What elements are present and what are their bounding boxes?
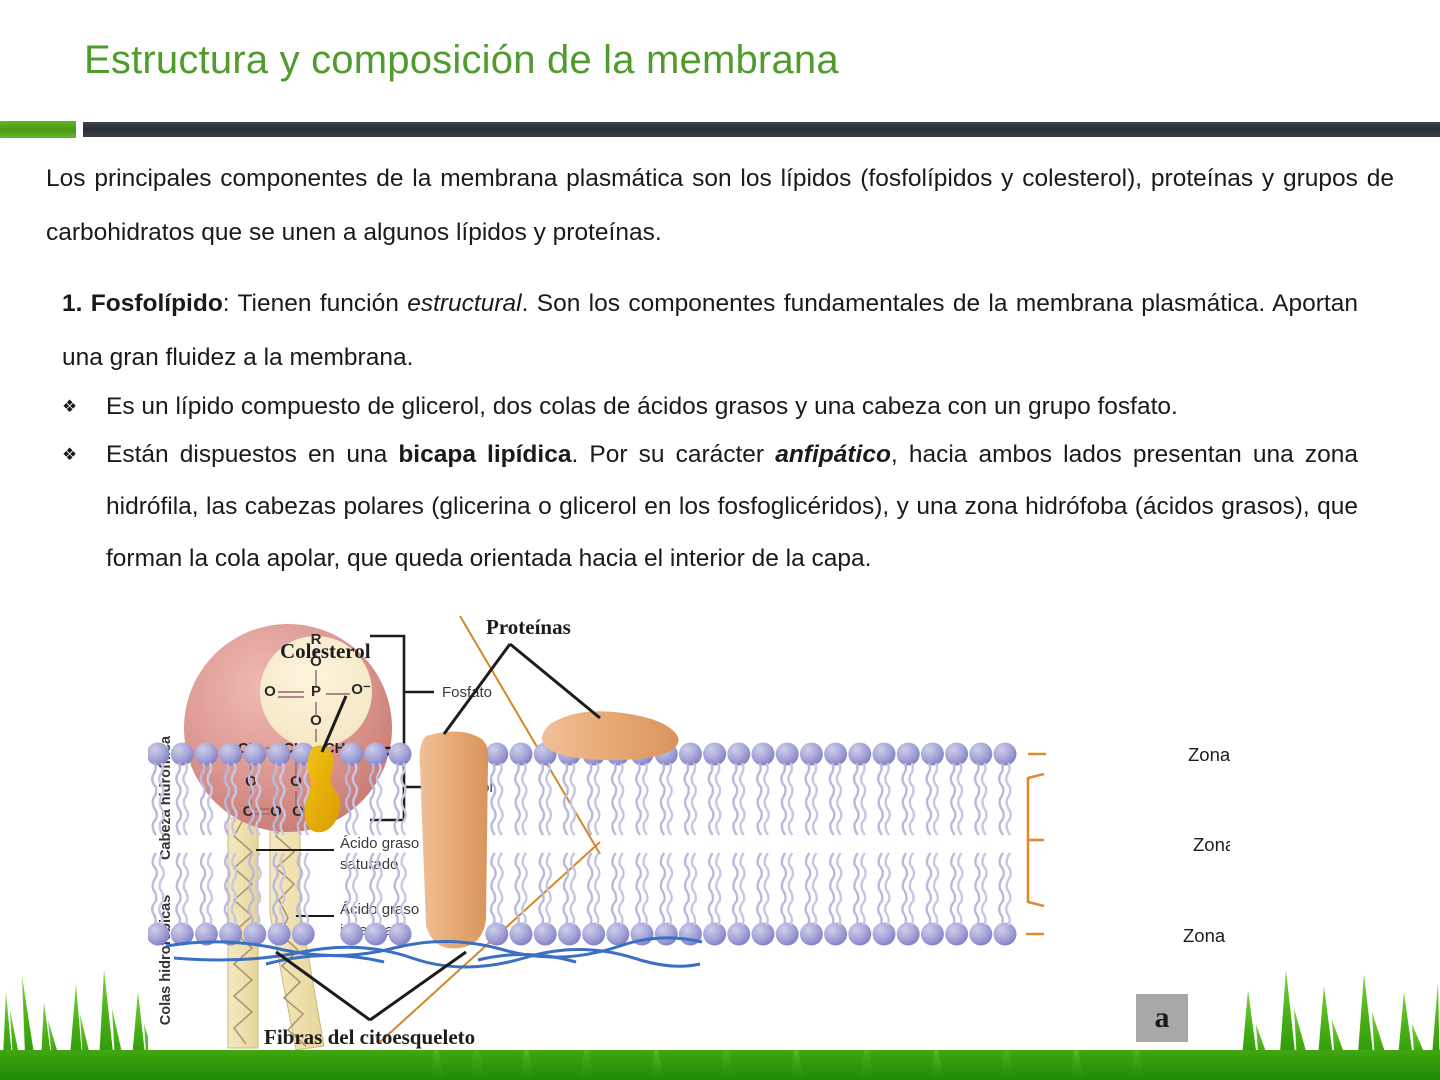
lipid-head — [364, 923, 387, 946]
lipid-head — [897, 743, 920, 766]
lipid-head — [921, 743, 944, 766]
lipid-head — [268, 743, 291, 766]
lipid-head — [776, 743, 799, 766]
lipid-tail — [764, 853, 769, 925]
lipid-tail — [781, 853, 786, 925]
lipid-tail — [1006, 853, 1011, 925]
bullet2-part1: Están dispuestos en una — [106, 441, 398, 468]
lipid-tail — [643, 763, 648, 835]
lipid-head — [800, 743, 823, 766]
lipid-tail — [733, 763, 738, 835]
label-fibras-citoesqueleto: Fibras del citoesqueleto — [264, 1025, 475, 1049]
lipid-tail — [999, 853, 1004, 925]
atom-O-left: O — [264, 683, 276, 700]
bullet-text-1: Es un lípido compuesto de glicerol, dos … — [106, 381, 1358, 433]
lipid-tail — [740, 763, 745, 835]
lipid-tail — [733, 853, 738, 925]
page-title: Estructura y composición de la membrana — [84, 38, 839, 83]
lipid-head — [848, 923, 871, 946]
lipid-tail — [491, 763, 496, 835]
lipid-tail — [304, 853, 309, 925]
label-acido-graso-saturado-l1: Ácido graso — [340, 835, 419, 852]
lipid-head — [195, 743, 218, 766]
lipid-head — [703, 743, 726, 766]
lipid-head — [994, 743, 1017, 766]
lipid-tail — [667, 763, 672, 835]
lipid-tail — [813, 763, 818, 835]
bullet2-bold: bicapa lipídica — [398, 441, 571, 468]
membrane-figure-svg: Cabeza hidrofílica Colas hidrofóbicas R … — [148, 608, 1230, 1050]
lipid-tail — [201, 853, 206, 925]
lipid-tail — [515, 763, 520, 835]
lipid-tail — [564, 853, 569, 925]
lipid-tail — [208, 853, 213, 925]
lipid-tail — [588, 853, 593, 925]
lipid-head — [752, 923, 775, 946]
lipid-tail — [571, 763, 576, 835]
lipid-tail — [667, 853, 672, 925]
lipid-head — [727, 743, 750, 766]
lipid-head — [824, 923, 847, 946]
lipid-head — [243, 743, 266, 766]
bullet-item-2: ❖ Están dispuestos en una bicapa lipídic… — [58, 429, 1358, 585]
lipid-tail — [982, 763, 987, 835]
lipid-head — [824, 743, 847, 766]
lipid-head — [873, 743, 896, 766]
lipid-tail — [522, 763, 527, 835]
lipid-tail — [830, 763, 835, 835]
lipid-head — [510, 923, 533, 946]
list-colon: : — [223, 290, 230, 317]
bullet2-bolditalic: anfipático — [775, 441, 891, 468]
list-term: Fosfolípido — [91, 290, 223, 317]
lipid-tail — [861, 763, 866, 835]
lipid-tail — [781, 763, 786, 835]
lipid-tail — [813, 853, 818, 925]
lipid-head — [606, 923, 629, 946]
lipid-tail — [660, 853, 665, 925]
lipid-tail — [539, 853, 544, 925]
lipid-head — [679, 743, 702, 766]
lipid-tail — [934, 763, 939, 835]
lipid-tail — [927, 853, 932, 925]
lipid-head — [969, 743, 992, 766]
lipid-tail — [183, 763, 188, 835]
accent-green-block — [0, 121, 76, 138]
lipid-tail — [612, 763, 617, 835]
lipid-tail — [498, 763, 503, 835]
bullet-text-2: Están dispuestos en una bicapa lipídica.… — [106, 429, 1358, 585]
lipid-tail — [902, 763, 907, 835]
lipid-head — [340, 743, 363, 766]
lipid-tail — [571, 853, 576, 925]
lipid-head — [510, 743, 533, 766]
lipid-head — [703, 923, 726, 946]
list-text-pre: Tienen función — [230, 290, 408, 317]
lipid-tail — [539, 763, 544, 835]
lipid-tail — [491, 853, 496, 925]
lipid-tail — [975, 853, 980, 925]
lipid-tail — [740, 853, 745, 925]
lipid-tail — [837, 853, 842, 925]
lipid-head — [389, 923, 412, 946]
lipid-tail — [878, 853, 883, 925]
lipid-head — [219, 743, 242, 766]
label-fosfato: Fosfato — [442, 684, 492, 701]
lipid-head — [655, 923, 678, 946]
lipid-tail — [878, 763, 883, 835]
lipid-tail — [927, 763, 932, 835]
numbered-list-item-1: 1. Fosfolípido: Tienen función estructur… — [62, 277, 1358, 385]
lipid-tail — [612, 853, 617, 925]
lipid-head — [873, 923, 896, 946]
peripheral-protein — [542, 711, 679, 760]
lipid-tail — [885, 853, 890, 925]
lipid-head — [969, 923, 992, 946]
lipid-tail — [806, 853, 811, 925]
lipid-tail — [619, 763, 624, 835]
lipid-tail — [757, 763, 762, 835]
transmembrane-protein — [420, 731, 489, 948]
lipid-tail — [152, 763, 157, 835]
lipid-head — [776, 923, 799, 946]
list-italic-word: estructural — [407, 290, 521, 317]
lipid-tail — [546, 763, 551, 835]
lipid-head — [389, 743, 412, 766]
watermark-logo: a — [1136, 994, 1188, 1042]
lipid-head — [340, 923, 363, 946]
lipid-tail — [685, 763, 690, 835]
lipid-tail — [636, 853, 641, 925]
lipid-tail — [861, 853, 866, 925]
zone-label-apolar: Zona apolar — [1193, 834, 1230, 856]
lipid-tail — [830, 853, 835, 925]
lipid-tail — [709, 853, 714, 925]
lipid-head — [534, 923, 557, 946]
lipid-tail — [934, 853, 939, 925]
label-colesterol: Colesterol — [280, 639, 371, 663]
lipid-head — [292, 923, 315, 946]
lipid-tail — [806, 763, 811, 835]
lipid-head — [994, 923, 1017, 946]
lipid-tail — [716, 763, 721, 835]
lipid-tail — [643, 853, 648, 925]
label-proteinas: Proteínas — [486, 615, 571, 639]
accent-dark-bar — [83, 122, 1440, 137]
bullet-item-1: ❖ Es un lípido compuesto de glicerol, do… — [58, 381, 1358, 433]
lipid-tail — [692, 763, 697, 835]
lipid-tail — [837, 763, 842, 835]
lipid-tail — [660, 763, 665, 835]
lipid-head — [945, 923, 968, 946]
lipid-tail — [176, 763, 181, 835]
lipid-tail — [498, 853, 503, 925]
lipid-head — [364, 743, 387, 766]
zone-markers — [1026, 754, 1046, 934]
lipid-tail — [716, 853, 721, 925]
lipid-tail — [909, 853, 914, 925]
lipid-tail — [958, 763, 963, 835]
lipid-tail — [909, 763, 914, 835]
lipid-tail — [636, 763, 641, 835]
lipid-tail — [854, 763, 859, 835]
lipid-tail — [788, 763, 793, 835]
lipid-head — [897, 923, 920, 946]
lipid-tail — [685, 853, 690, 925]
lipid-tail — [764, 763, 769, 835]
lipid-tail — [394, 763, 399, 835]
lipid-head — [800, 923, 823, 946]
diamond-bullet-icon: ❖ — [58, 429, 106, 481]
lipid-tail — [951, 763, 956, 835]
lipid-head — [727, 923, 750, 946]
lipid-tail — [595, 853, 600, 925]
lipid-tail — [152, 853, 157, 925]
lipid-tail — [885, 763, 890, 835]
lipid-tail — [958, 853, 963, 925]
lipid-tail — [757, 853, 762, 925]
lipid-head — [582, 923, 605, 946]
lipid-tail — [588, 763, 593, 835]
bullet2-part2: . Por su carácter — [571, 441, 775, 468]
lipid-tail — [183, 853, 188, 925]
zone-label-polar-top: Zona polar — [1188, 744, 1230, 766]
lipid-tail — [982, 853, 987, 925]
diamond-bullet-icon: ❖ — [58, 381, 106, 433]
lipid-head — [485, 743, 508, 766]
lipid-tail — [176, 853, 181, 925]
lipid-head — [752, 743, 775, 766]
membrane-figure: Cabeza hidrofílica Colas hidrofóbicas R … — [148, 608, 1230, 1050]
lipid-tail — [1006, 763, 1011, 835]
lipid-tail — [854, 853, 859, 925]
slide-canvas: Estructura y composición de la membrana … — [0, 0, 1440, 1080]
lipid-tail — [951, 853, 956, 925]
lipid-tail — [692, 853, 697, 925]
lipid-tail — [619, 853, 624, 925]
lipid-tail — [999, 763, 1004, 835]
lipid-tail — [902, 853, 907, 925]
lipid-head — [171, 743, 194, 766]
lipid-tail — [522, 853, 527, 925]
intro-paragraph: Los principales componentes de la membra… — [46, 152, 1394, 260]
lipid-head — [485, 923, 508, 946]
lipid-head — [268, 923, 291, 946]
lipid-tail — [975, 763, 980, 835]
lipid-head — [921, 923, 944, 946]
lipid-tail — [788, 853, 793, 925]
list-number: 1. — [62, 290, 82, 317]
connector-lines — [380, 616, 600, 1042]
lipid-tail — [595, 763, 600, 835]
atom-O-right: O⁻ — [351, 681, 371, 698]
zone-label-polar-bottom: Zona polar — [1183, 925, 1230, 947]
lipid-tail — [709, 763, 714, 835]
lipid-head — [848, 743, 871, 766]
lipid-head — [558, 923, 581, 946]
lipid-head — [945, 743, 968, 766]
